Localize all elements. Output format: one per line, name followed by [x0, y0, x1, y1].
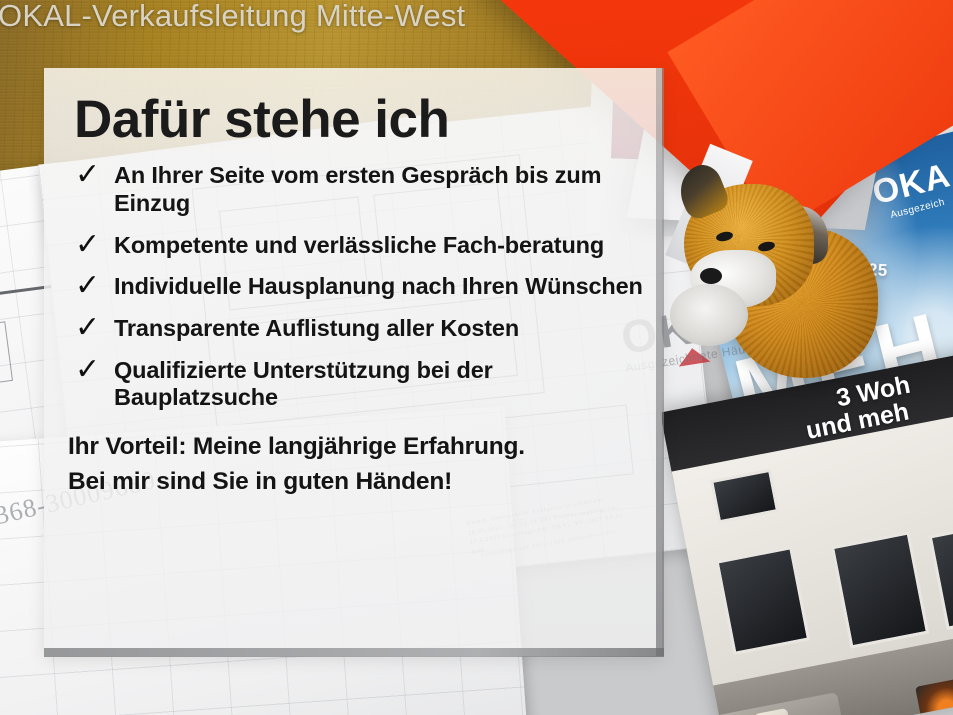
- panel-right-edge: [656, 68, 664, 656]
- check-icon: ✓: [75, 352, 100, 387]
- house-photo-window: [715, 546, 810, 655]
- fox-eye: [715, 230, 733, 242]
- fox-eye: [757, 240, 775, 252]
- closing-line-1: Ihr Vorteil: Meine langjährige Erfahrung…: [68, 430, 644, 465]
- house-photo-window: [831, 531, 929, 648]
- check-icon: ✓: [75, 268, 100, 303]
- list-item-label: Transparente Auflistung aller Kosten: [114, 315, 519, 341]
- list-item: ✓ Individuelle Hausplanung nach Ihren Wü…: [66, 273, 644, 301]
- list-item: ✓ Qualifizierte Unterstützung bei der Ba…: [66, 357, 644, 412]
- house-photo-window: [710, 469, 779, 524]
- house-photo-sofa: [689, 692, 846, 715]
- list-item: ✓ Transparente Auflistung aller Kosten: [66, 315, 644, 343]
- house-photo-firepit: [915, 677, 953, 715]
- check-icon: ✓: [75, 157, 100, 192]
- fox-chest-fur: [670, 284, 748, 346]
- panel-bottom-edge: [44, 648, 664, 657]
- fox-nose: [700, 268, 722, 284]
- list-item-label: An Ihrer Seite vom ersten Gespräch bis z…: [114, 162, 601, 216]
- house-photo-cushion: [753, 708, 791, 715]
- check-icon: ✓: [75, 227, 100, 262]
- page-title: Dafür stehe ich: [74, 92, 644, 148]
- closing-statement: Ihr Vorteil: Meine langjährige Erfahrung…: [68, 430, 644, 500]
- check-icon: ✓: [75, 310, 100, 345]
- house-photo-window: [929, 523, 953, 630]
- brochure-house-photo: 3 Woh und meh möglich Wohnen nur ganz be…: [660, 350, 953, 715]
- list-item-label: Individuelle Hausplanung nach Ihren Wüns…: [114, 273, 643, 299]
- list-item-label: Qualifizierte Unterstützung bei der Baup…: [114, 357, 493, 411]
- benefits-list: ✓ An Ihrer Seite vom ersten Gespräch bis…: [66, 162, 644, 412]
- list-item-label: Kompetente und verlässliche Fach-beratun…: [114, 232, 604, 258]
- promotional-graphic: 1368-30009680 Datum, Unterschrift Bauher…: [0, 0, 953, 715]
- list-item: ✓ An Ihrer Seite vom ersten Gespräch bis…: [66, 162, 644, 217]
- closing-line-2: Bei mir sind Sie in guten Händen!: [68, 465, 644, 500]
- header-caption: OKAL-Verkaufsleitung Mitte-West: [0, 0, 465, 34]
- list-item: ✓ Kompetente und verlässliche Fach-berat…: [66, 232, 644, 260]
- plush-fox-figurine: [680, 172, 880, 384]
- text-overlay-panel: Dafür stehe ich ✓ An Ihrer Seite vom ers…: [44, 68, 662, 656]
- house-photo-terrace: [684, 634, 953, 715]
